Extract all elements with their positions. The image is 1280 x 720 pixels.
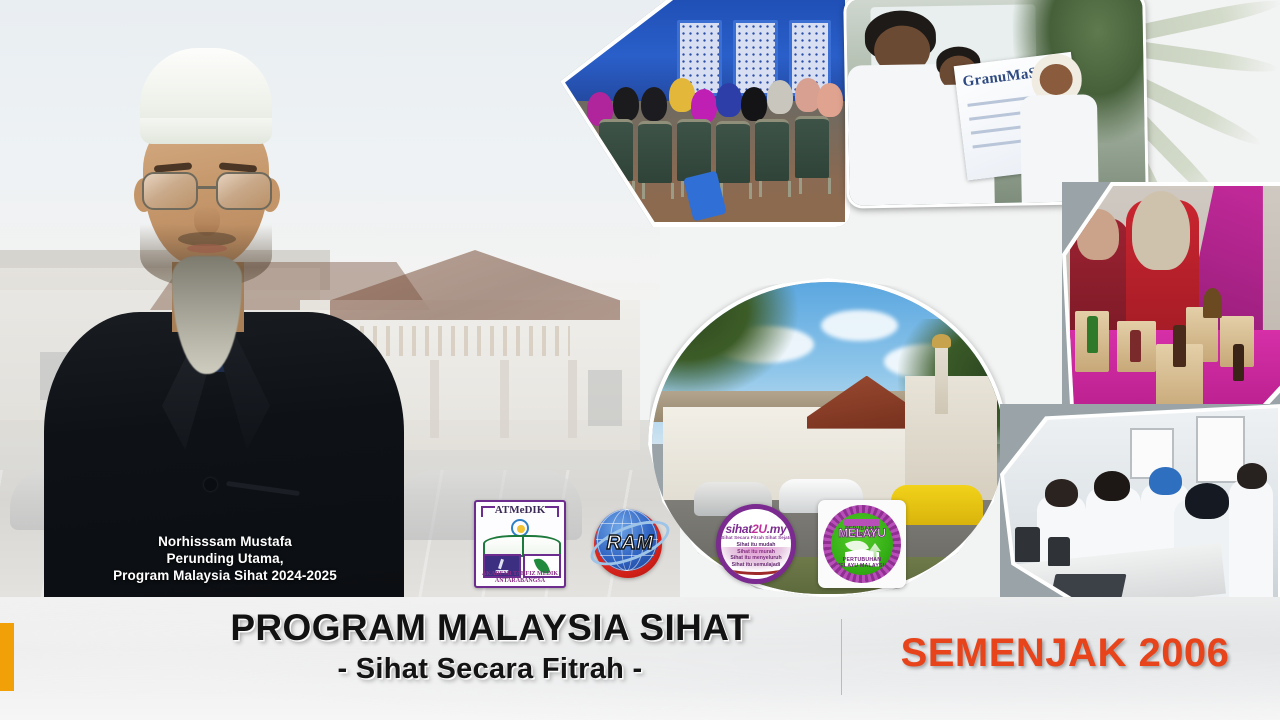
portrait-kufi-cap xyxy=(140,48,272,144)
logo-ram[interactable]: RAM xyxy=(588,504,672,584)
logo-atmedik[interactable]: ATMeDIK AKADEMI TAHFIZ MEDIK ANTARABANGS… xyxy=(474,500,566,588)
sihat2u-word-b: 2U xyxy=(752,522,767,536)
atmedik-subtitle: AKADEMI TAHFIZ MEDIK ANTARABANGSA xyxy=(476,571,564,585)
atmedik-title: ATMeDIK xyxy=(476,504,564,516)
melayu-chip xyxy=(844,519,880,526)
melayu-wordmark: MELAYU xyxy=(831,526,893,540)
portrait-caption: Norhisssam Mustafa Perunding Utama, Prog… xyxy=(60,533,390,584)
photo-seminar xyxy=(560,0,850,227)
orange-accent-block xyxy=(0,623,14,691)
portrait-caption-role: Perunding Utama, xyxy=(60,550,390,567)
granumas-poster-title: GranuMaS xyxy=(962,65,1038,91)
sihat2u-word-a: sihat xyxy=(725,522,752,536)
portrait-consultant xyxy=(44,48,404,600)
photo-exhibition-booth xyxy=(1062,182,1280,422)
portrait-caption-program: Program Malaysia Sihat 2024-2025 xyxy=(60,567,390,584)
logo-melayu[interactable]: PENGAMAL PERUBATAN NATUROPATI MELAYU PER… xyxy=(818,500,906,588)
ram-wordmark: RAM xyxy=(588,532,672,555)
atmedik-subtitle-line1: AKADEMI TAHFIZ MEDIK xyxy=(476,571,564,578)
program-subtitle: - Sihat Secara Fitrah - xyxy=(160,650,820,688)
melayu-arc-bottom: PERTUBUHAN MELAYU MALAYSIA xyxy=(831,557,893,569)
sihat2u-word-c: .my xyxy=(767,522,787,536)
portrait-mouth xyxy=(187,244,227,253)
bottom-banner-divider xyxy=(841,619,842,695)
portrait-jacket-button xyxy=(204,478,217,491)
logo-sihat2u[interactable]: sihat2U.my Sihat Secara Fitrah Sihat Sej… xyxy=(716,504,796,584)
logo-strip: ATMeDIK AKADEMI TAHFIZ MEDIK ANTARABANGS… xyxy=(470,496,930,592)
poster-canvas: GranuMaS xyxy=(0,0,1280,720)
swoosh-icon xyxy=(716,547,796,575)
bottom-banner-title-group: PROGRAM MALAYSIA SIHAT - Sihat Secara Fi… xyxy=(160,606,820,688)
portrait-caption-name: Norhisssam Mustafa xyxy=(60,533,390,550)
sihat2u-wordmark: sihat2U.my xyxy=(721,522,791,536)
program-title: PROGRAM MALAYSIA SIHAT xyxy=(160,606,820,650)
since-label: SEMENJAK 2006 xyxy=(860,631,1270,676)
sihat2u-tagline: Sihat Secara Fitrah Sihat Sejati xyxy=(721,535,791,540)
photo-granumas-demo: GranuMaS xyxy=(843,0,1149,209)
melayu-inner-disc: PENGAMAL PERUBATAN NATUROPATI MELAYU PER… xyxy=(831,513,893,575)
atmedik-subtitle-line2: ANTARABANGSA xyxy=(476,578,564,585)
photo-lab-classroom xyxy=(1000,404,1280,610)
